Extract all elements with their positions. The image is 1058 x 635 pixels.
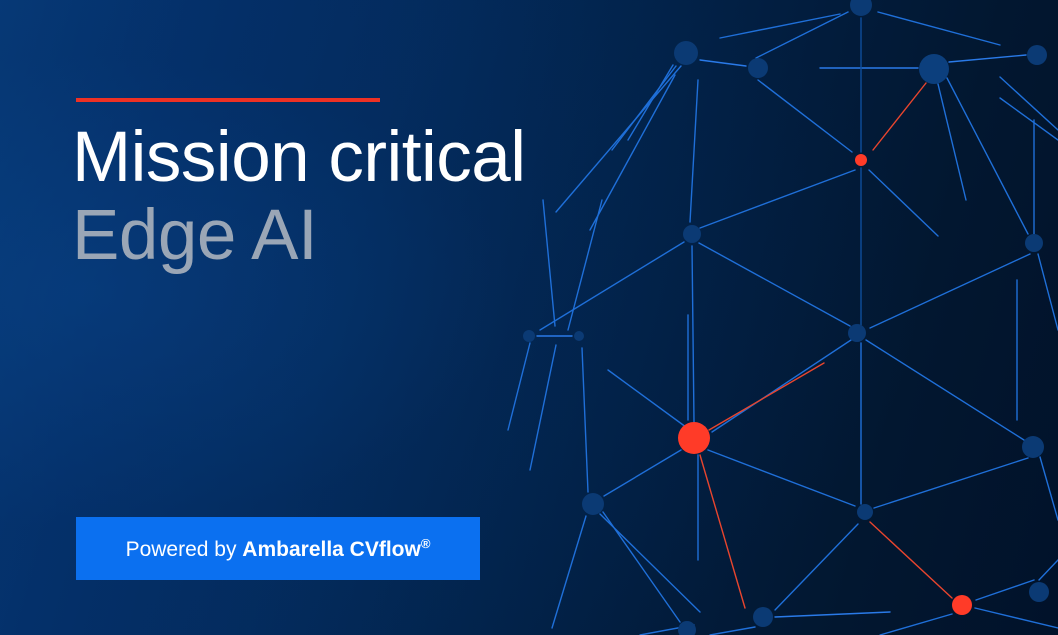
registered-trademark-icon: ® [421,536,431,551]
headline-line-2: Edge AI [72,200,712,272]
page-title: Mission critical Edge AI [72,122,712,273]
banner-content: Mission critical Edge AI Powered by Amba… [0,0,1058,635]
headline-line-1: Mission critical [72,122,712,194]
accent-rule [76,98,380,102]
powered-by-ambarella-button[interactable]: Powered by Ambarella CVflow® [76,517,480,580]
cta-prefix: Powered by [126,538,243,561]
cta-brand: Ambarella CVflow [242,538,421,561]
promo-banner: Mission critical Edge AI Powered by Amba… [0,0,1058,635]
cta-label: Powered by Ambarella CVflow® [126,536,431,562]
